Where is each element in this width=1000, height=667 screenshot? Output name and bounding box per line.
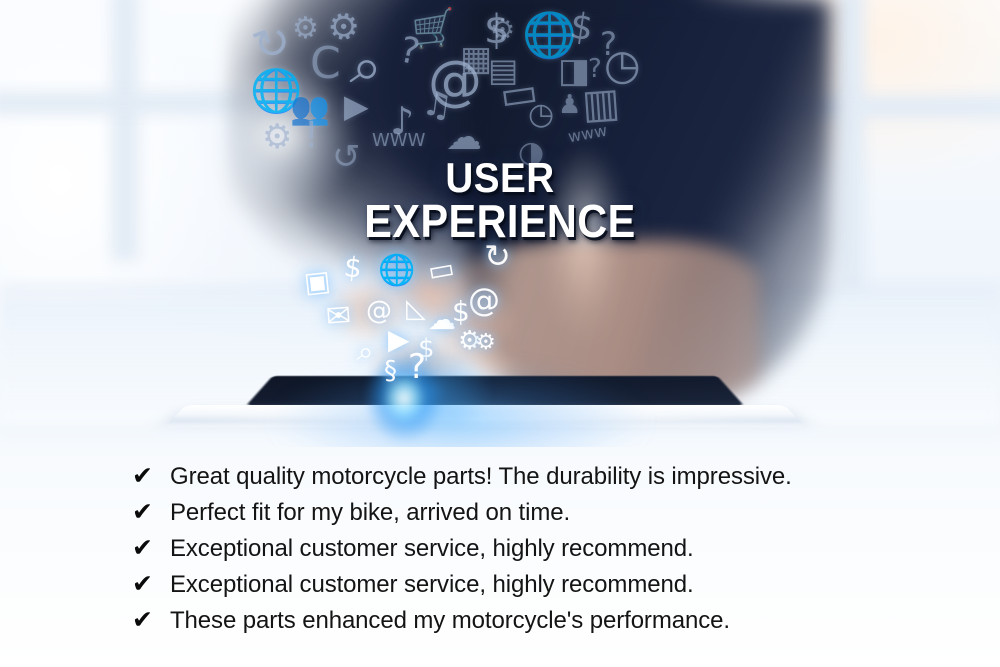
refresh-arrow-icon: ↻ xyxy=(484,240,511,272)
question-mark-icon: ? xyxy=(588,56,602,82)
icon-cloud-top: ↻⚙⚙🌐⌕C?🛒$▦👥▶♪♫!⚙WWW☁@▤🌐⚙$?◷▭◨◷♟▥www?↺◑ xyxy=(232,0,652,177)
background-photo: ↻⚙⚙🌐⌕C?🛒$▦👥▶♪♫!⚙WWW☁@▤🌐⚙$?◷▭◨◷♟▥www?↺◑ ▣… xyxy=(0,0,1000,470)
credit-card-icon: ▭ xyxy=(426,254,457,286)
checkmark-icon: ✔ xyxy=(132,605,170,635)
send-icon: ◺ xyxy=(406,296,426,322)
refresh-arrow-icon: ↺ xyxy=(332,140,361,174)
review-item: ✔Exceptional customer service, highly re… xyxy=(132,569,972,605)
review-item: ✔Exceptional customer service, highly re… xyxy=(132,533,972,569)
gear-icon: ⚙ xyxy=(476,332,496,354)
review-item: ✔Perfect fit for my bike, arrived on tim… xyxy=(132,497,972,533)
clock-icon: ◷ xyxy=(528,100,554,130)
review-text: Exceptional customer service, highly rec… xyxy=(170,571,694,599)
checkmark-icon: ✔ xyxy=(132,497,170,527)
at-sign-icon: @ xyxy=(366,298,392,324)
review-list: ✔Great quality motorcycle parts! The dur… xyxy=(132,461,972,641)
review-text: These parts enhanced my motorcycle's per… xyxy=(170,607,730,635)
window-mullion-vertical-left xyxy=(112,0,138,260)
refresh-arrow-icon: ↻ xyxy=(248,17,298,71)
envelope-icon: ✉ xyxy=(325,301,352,333)
review-text: Perfect fit for my bike, arrived on time… xyxy=(170,499,570,527)
s-curve-icon: § xyxy=(384,358,397,384)
exclamation-icon: ! xyxy=(304,118,318,154)
www-label-icon: WWW xyxy=(372,132,425,150)
c-arc-icon: C xyxy=(310,42,341,86)
dollar-sign-icon: $ xyxy=(343,253,364,283)
speedometer-icon: ◑ xyxy=(518,138,544,168)
at-sign-icon: @ xyxy=(428,54,482,108)
checkmark-icon: ✔ xyxy=(132,569,170,599)
review-item: ✔Great quality motorcycle parts! The dur… xyxy=(132,461,972,497)
question-mark-icon: ? xyxy=(408,350,426,384)
review-text: Exceptional customer service, highly rec… xyxy=(170,535,694,563)
magnifier-icon: ⌕ xyxy=(356,337,376,367)
review-text: Great quality motorcycle parts! The dura… xyxy=(170,463,792,491)
dollar-sign-icon: $ xyxy=(452,298,470,326)
gear-icon: ⚙ xyxy=(490,16,515,44)
camera-icon: ▣ xyxy=(303,267,332,298)
www-label-icon: www xyxy=(567,123,608,146)
shopping-cart-icon: 🛒 xyxy=(410,10,458,50)
review-item: ✔These parts enhanced my motorcycle's pe… xyxy=(132,605,972,641)
barcode-icon: ▥ xyxy=(581,83,621,126)
window-mullion-vertical-right xyxy=(838,0,864,290)
cloud-icon: ☁ xyxy=(446,120,482,156)
checkmark-icon: ✔ xyxy=(132,533,170,563)
poster-canvas: ↻⚙⚙🌐⌕C?🛒$▦👥▶♪♫!⚙WWW☁@▤🌐⚙$?◷▭◨◷♟▥www?↺◑ ▣… xyxy=(0,0,1000,667)
dollar-sign-icon: $ xyxy=(568,9,596,48)
play-video-icon: ▶ xyxy=(388,326,410,354)
globe-icon: 🌐 xyxy=(378,256,415,286)
checkmark-icon: ✔ xyxy=(132,461,170,491)
play-video-icon: ▶ xyxy=(344,90,369,122)
caption-panel: ✔Great quality motorcycle parts! The dur… xyxy=(0,447,1000,667)
gear-icon: ⚙ xyxy=(262,120,292,154)
at-sign-icon: @ xyxy=(468,284,500,316)
icon-burst-bottom: ▣$🌐▭↻@✉@◺☁$▶⌕⚙⚙$?§ xyxy=(300,240,550,420)
person-icon: ♟ xyxy=(558,92,581,118)
